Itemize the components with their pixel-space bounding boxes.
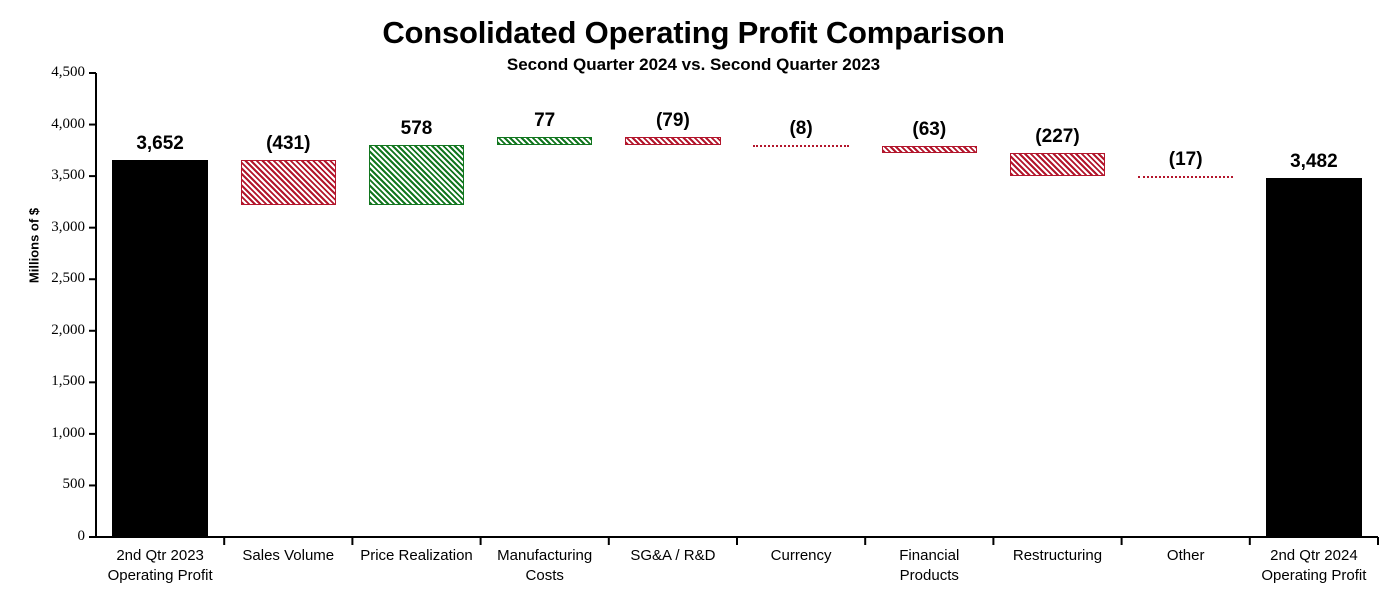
data-label: 77 [481, 111, 609, 131]
x-axis-label-2: Sales Volume [224, 546, 352, 566]
bar-10-total [1266, 178, 1362, 537]
x-axis-label-line1: Other [1167, 547, 1205, 564]
x-axis-label-line1: Currency [771, 547, 832, 564]
x-axis-label-4: ManufacturingCosts [481, 546, 609, 586]
x-axis-label-line1: SG&A / R&D [630, 547, 715, 564]
x-axis-label-3: Price Realization [352, 546, 480, 566]
x-axis-label-line1: Sales Volume [242, 547, 334, 564]
x-axis-label-line1: Manufacturing [497, 547, 592, 564]
x-axis-label-line1: 2nd Qtr 2024 [1270, 547, 1358, 564]
x-axis-label-1: 2nd Qtr 2023Operating Profit [96, 546, 224, 586]
data-label: (79) [609, 111, 737, 131]
x-axis-label-6: Currency [737, 546, 865, 566]
x-axis-label-10: 2nd Qtr 2024Operating Profit [1250, 546, 1378, 586]
x-axis-label-line2: Products [865, 566, 993, 586]
bar-2-decrease [241, 160, 337, 204]
data-label: (227) [993, 127, 1121, 147]
bar-5-decrease [625, 137, 721, 145]
x-axis-label-5: SG&A / R&D [609, 546, 737, 566]
x-axis-label-line1: Restructuring [1013, 547, 1102, 564]
x-axis-label-line1: Price Realization [360, 547, 473, 564]
bar-9-decrease [1138, 176, 1234, 178]
data-label: (17) [1122, 150, 1250, 170]
bar-8-decrease [1010, 153, 1106, 176]
x-axis-label-line2: Operating Profit [1250, 566, 1378, 586]
bar-1-total [112, 160, 208, 537]
plot-area: 3,652(431)57877(79)(8)(63)(227)(17)3,482 [96, 73, 1378, 537]
x-axis-label-line1: Financial [899, 547, 959, 564]
x-axis-label-line2: Operating Profit [96, 566, 224, 586]
x-axis-label-7: FinancialProducts [865, 546, 993, 586]
bar-7-decrease [882, 146, 978, 152]
x-axis-label-line1: 2nd Qtr 2023 [116, 547, 204, 564]
x-axis-label-8: Restructuring [993, 546, 1121, 566]
data-label: (431) [224, 134, 352, 154]
data-label: 578 [352, 119, 480, 139]
data-label: 3,652 [96, 134, 224, 154]
data-label: (8) [737, 119, 865, 139]
data-label: 3,482 [1250, 152, 1378, 172]
data-label: (63) [865, 120, 993, 140]
x-axis-label-line2: Costs [481, 566, 609, 586]
bar-6-decrease [753, 145, 849, 147]
x-axis-category-labels: 2nd Qtr 2023Operating ProfitSales Volume… [96, 546, 1378, 595]
x-axis-label-9: Other [1122, 546, 1250, 566]
bar-3-increase [369, 145, 465, 205]
bar-4-increase [497, 137, 593, 145]
waterfall-chart: Consolidated Operating Profit Comparison… [0, 0, 1387, 595]
